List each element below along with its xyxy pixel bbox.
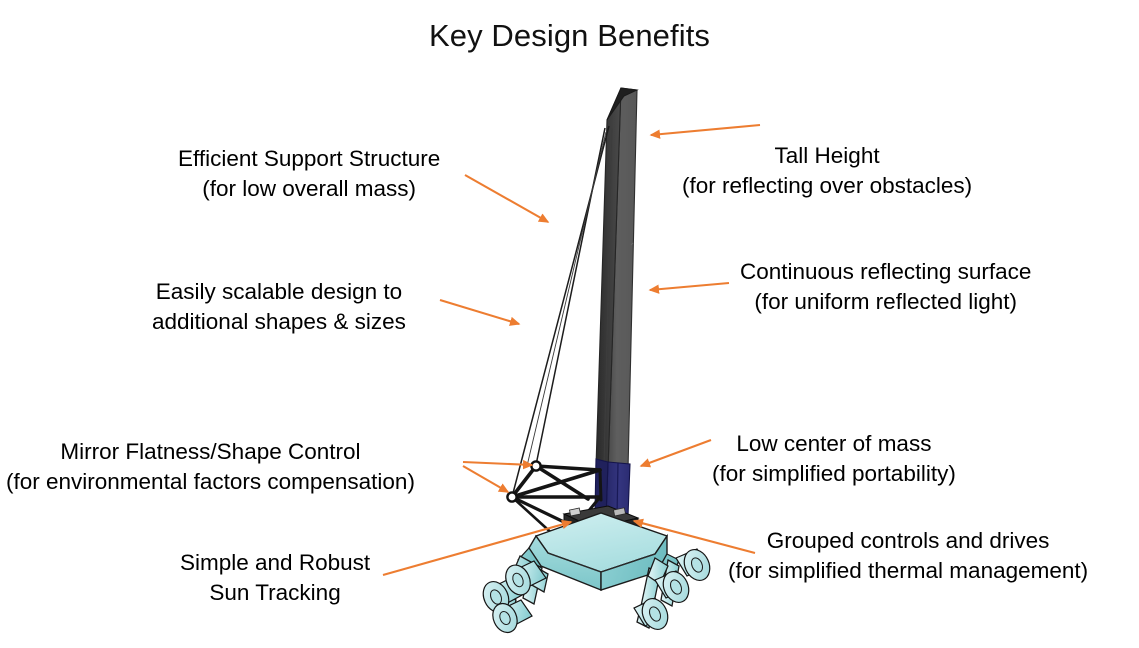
callout-line-2: (for reflecting over obstacles) xyxy=(682,171,972,201)
truss-joints xyxy=(507,461,540,501)
callout-efficient-support-structure: Efficient Support Structure (for low ove… xyxy=(178,144,440,203)
callout-line-1: Tall Height xyxy=(682,141,972,171)
callout-low-center-of-mass: Low center of mass (for simplified porta… xyxy=(712,429,956,488)
wheel xyxy=(655,568,693,607)
arrow-low-center-of-mass xyxy=(641,440,711,466)
callout-line-2: Sun Tracking xyxy=(180,578,370,608)
wheel xyxy=(634,595,672,634)
callout-line-2: (for uniform reflected light) xyxy=(740,287,1031,317)
callout-tall-height: Tall Height (for reflecting over obstacl… xyxy=(682,141,972,200)
callout-line-2: (for environmental factors compensation) xyxy=(6,467,415,497)
callout-line-1: Efficient Support Structure xyxy=(178,144,440,174)
arrow-simple-robust-sun-tracking xyxy=(383,522,571,575)
wheel xyxy=(501,561,546,599)
suspension-arms xyxy=(500,556,679,628)
callout-line-1: Easily scalable design to xyxy=(152,277,406,307)
chassis xyxy=(518,513,679,590)
callout-line-1: Grouped controls and drives xyxy=(728,526,1088,556)
callout-line-2: additional shapes & sizes xyxy=(152,307,406,337)
callout-line-2: (for low overall mass) xyxy=(178,174,440,204)
wheel xyxy=(488,600,532,637)
callout-line-2: (for simplified thermal management) xyxy=(728,556,1088,586)
wheels xyxy=(479,546,715,637)
arrow-scalable-design xyxy=(440,300,519,324)
mirror-base-panel xyxy=(595,459,630,518)
control-box xyxy=(564,506,638,543)
diagram-page: Key Design Benefits xyxy=(0,0,1139,648)
callout-line-1: Simple and Robust xyxy=(180,548,370,578)
support-truss xyxy=(512,466,601,537)
callout-line-1: Continuous reflecting surface xyxy=(740,257,1031,287)
arrow-continuous-reflecting-surface xyxy=(650,283,729,290)
callout-scalable-design: Easily scalable design to additional sha… xyxy=(152,277,406,336)
wheel xyxy=(479,577,524,616)
arrow-mirror-flatness-a xyxy=(463,462,532,465)
arrow-efficient-support-structure xyxy=(465,175,548,222)
callout-line-1: Mirror Flatness/Shape Control xyxy=(6,437,415,467)
callout-line-1: Low center of mass xyxy=(712,429,956,459)
callout-simple-robust-sun-tracking: Simple and Robust Sun Tracking xyxy=(180,548,370,607)
callout-line-2: (for simplified portability) xyxy=(712,459,956,489)
support-cables xyxy=(512,126,609,497)
mirror-panel xyxy=(596,88,637,470)
wheel xyxy=(676,546,714,585)
callout-mirror-flatness-shape-control: Mirror Flatness/Shape Control (for envir… xyxy=(6,437,415,496)
page-title: Key Design Benefits xyxy=(0,18,1139,54)
callout-grouped-controls-and-drives: Grouped controls and drives (for simplif… xyxy=(728,526,1088,585)
arrow-tall-height xyxy=(651,125,760,135)
callout-continuous-reflecting-surface: Continuous reflecting surface (for unifo… xyxy=(740,257,1031,316)
arrow-mirror-flatness-b xyxy=(463,466,508,492)
